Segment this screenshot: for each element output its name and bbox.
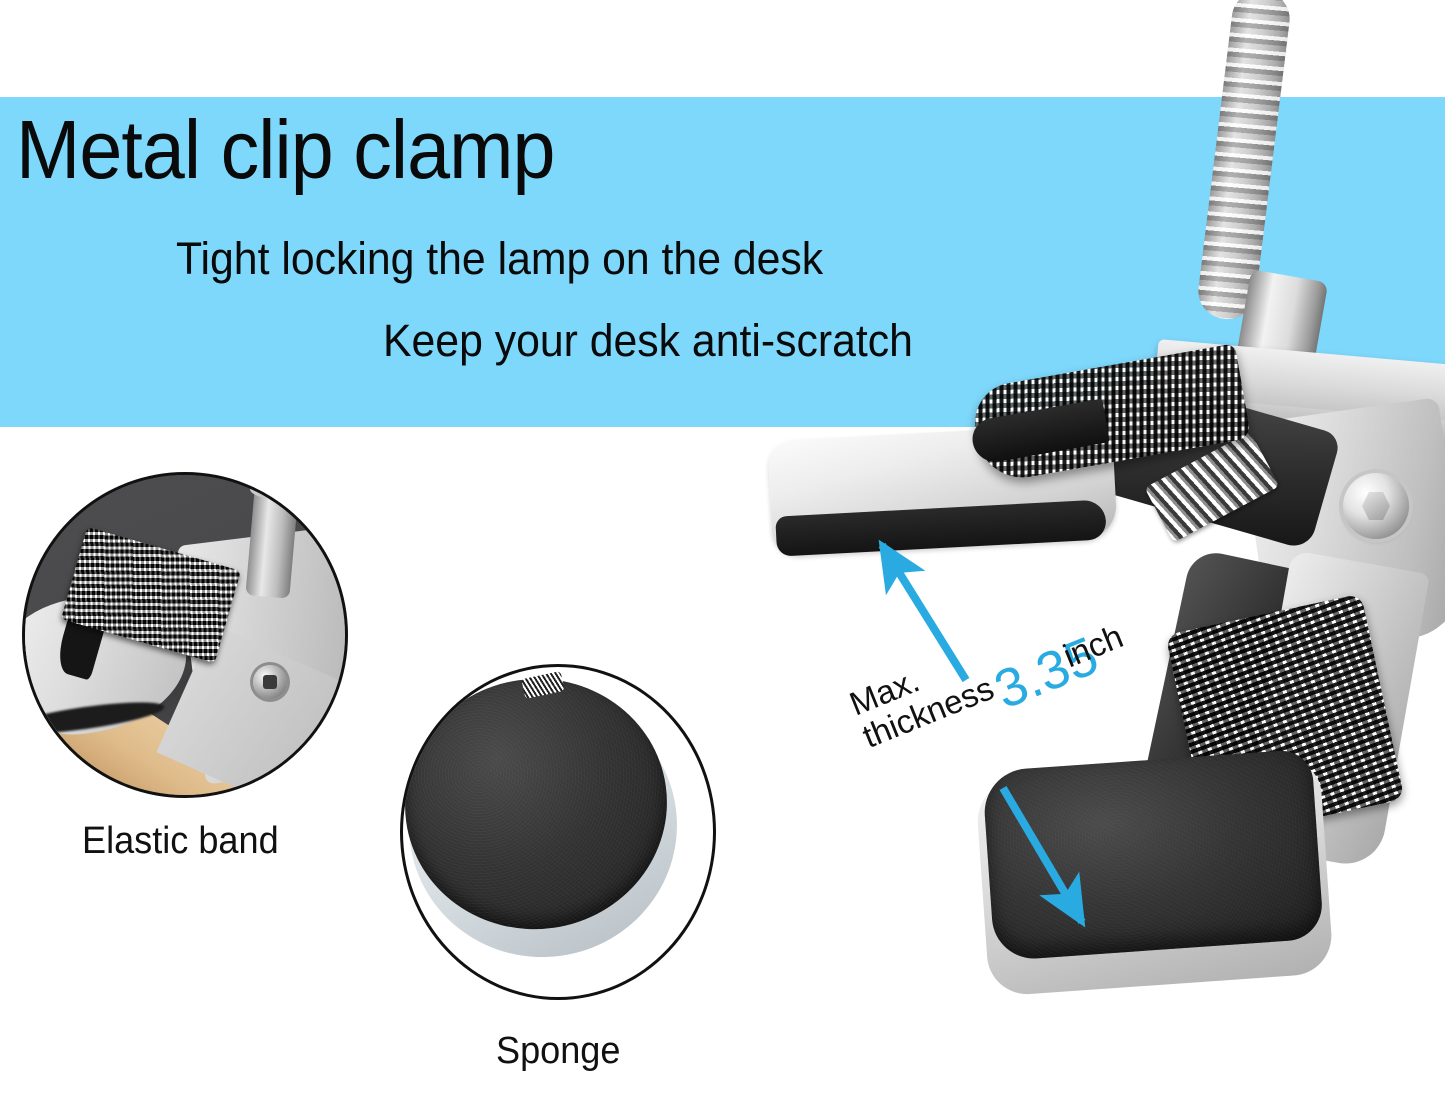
inset-photo-sponge — [400, 664, 716, 1000]
inset-photo-elastic-band — [22, 472, 348, 798]
clamp-post — [245, 487, 298, 598]
page-title: Metal clip clamp — [16, 108, 554, 191]
caption-sponge: Sponge — [496, 1030, 620, 1073]
product-photo-clip-clamp — [760, 0, 1445, 1012]
chassis-screw-slot — [263, 675, 277, 689]
caption-elastic-band: Elastic band — [82, 820, 279, 863]
infographic-page: Metal clip clamp Tight locking the lamp … — [0, 0, 1445, 1112]
subtitle-line-1: Tight locking the lamp on the desk — [176, 236, 823, 281]
lower-sponge-texture — [982, 749, 1324, 962]
